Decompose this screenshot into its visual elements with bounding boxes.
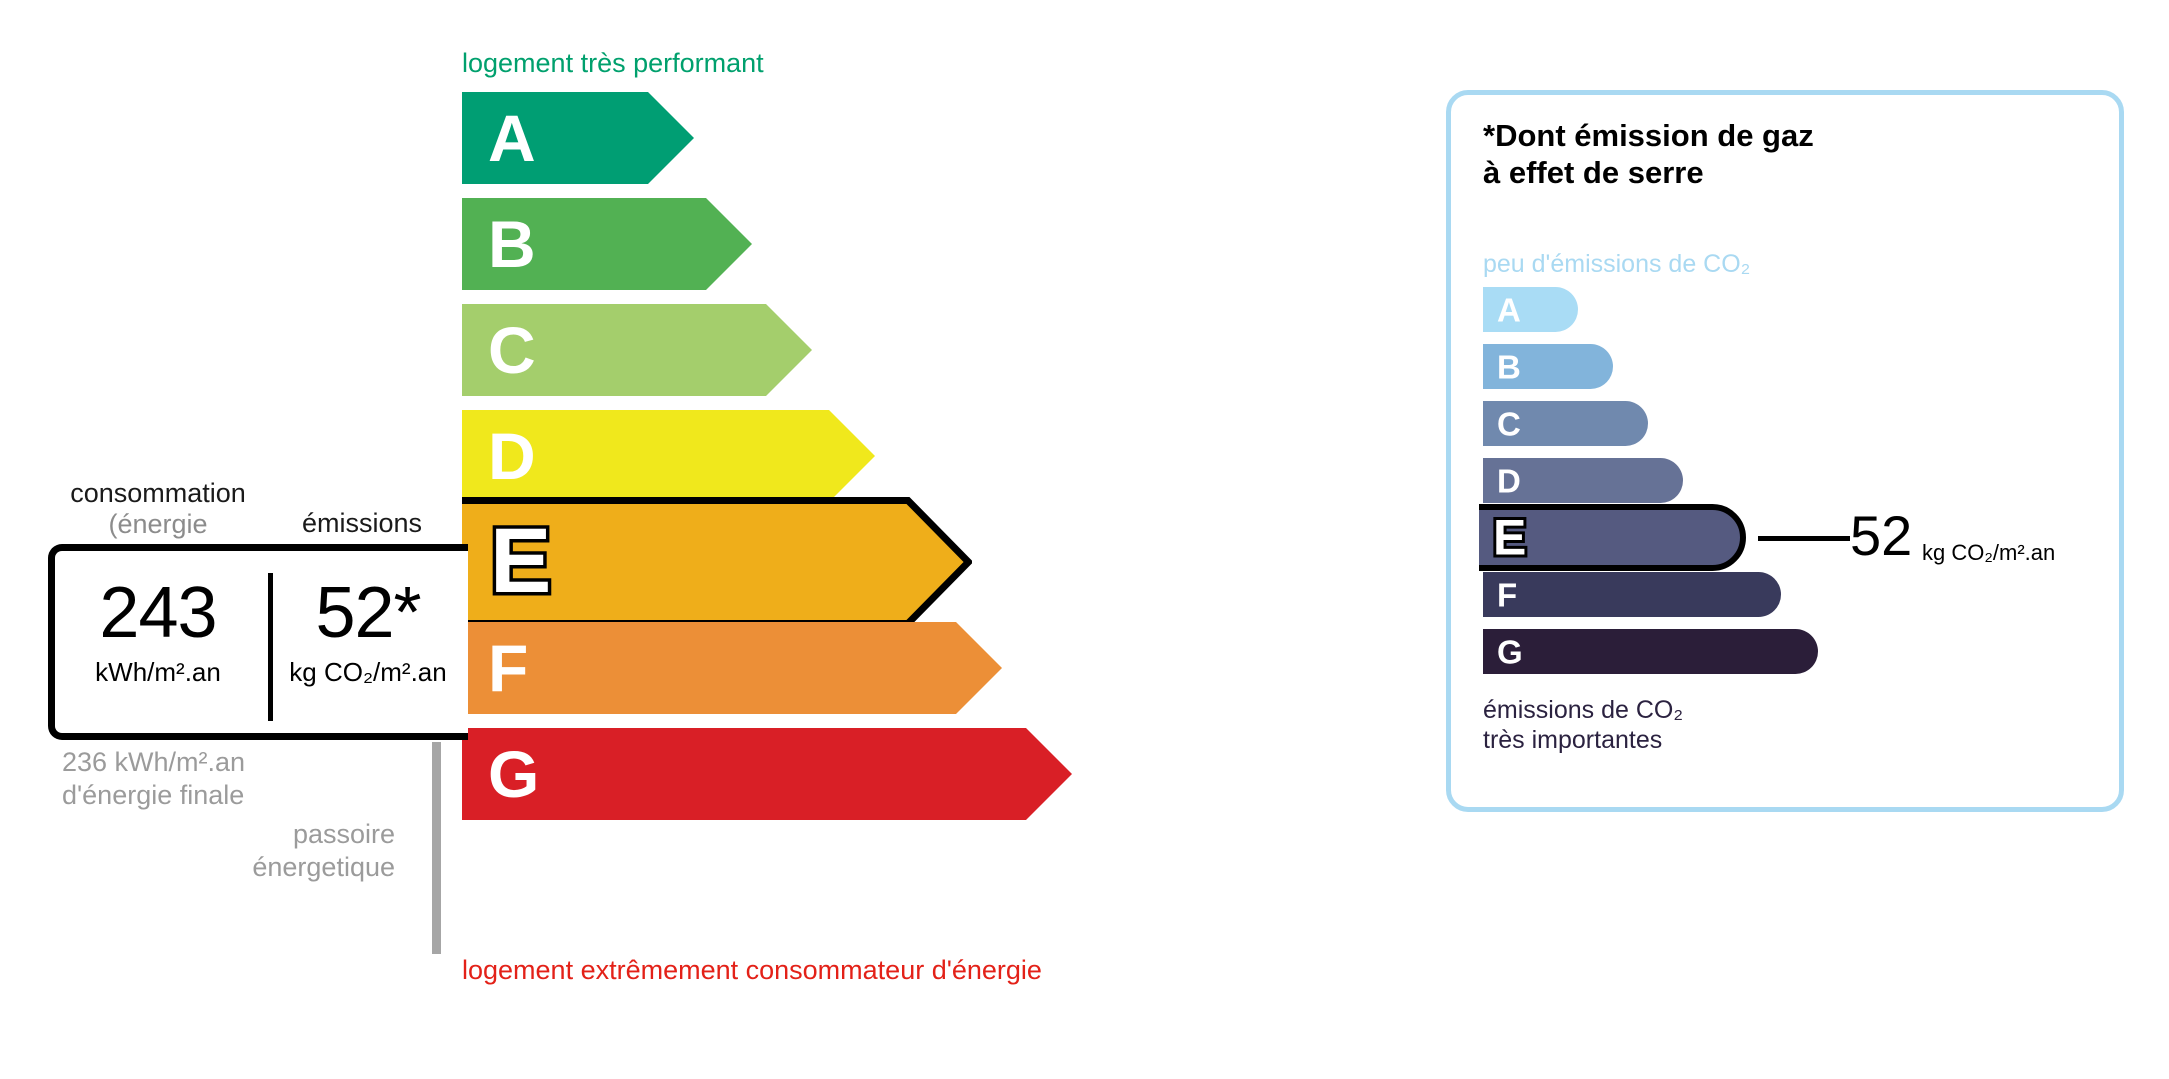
co2-callout-value: 52 bbox=[1850, 508, 1912, 564]
co2-class-row-c: C bbox=[1483, 401, 1648, 446]
energy-class-letter-b: B bbox=[488, 211, 536, 277]
emissions-unit: kg CO₂/m².an bbox=[273, 657, 463, 688]
emissions-label: émissions bbox=[302, 508, 422, 539]
energy-top-caption: logement très performant bbox=[462, 48, 764, 79]
co2-callout-unit: kg CO₂/m².an bbox=[1922, 540, 2055, 566]
co2-class-row-d: D bbox=[1483, 458, 1683, 503]
co2-class-letter-f: F bbox=[1497, 578, 1517, 611]
passoire-bracket bbox=[432, 742, 441, 954]
co2-bar-f bbox=[1483, 572, 1781, 617]
passoire-line2: énergetique bbox=[210, 851, 395, 884]
energy-class-letter-g: G bbox=[488, 741, 539, 807]
final-energy-line2: d'énergie finale bbox=[62, 779, 245, 812]
co2-top-label: peu d'émissions de CO₂ bbox=[1483, 250, 1750, 279]
energy-class-letter-f: F bbox=[488, 635, 528, 701]
energy-class-letter-a: A bbox=[488, 105, 536, 171]
energy-class-letter-c: C bbox=[488, 317, 536, 383]
co2-class-row-b: B bbox=[1483, 344, 1613, 389]
consumption-label-main: consommation bbox=[70, 478, 246, 508]
co2-class-letter-e: E bbox=[1493, 510, 1526, 566]
co2-bar-g bbox=[1483, 629, 1818, 674]
co2-class-letter-b: B bbox=[1497, 350, 1521, 383]
energy-class-letter-e: E bbox=[490, 510, 551, 612]
energy-performance-scale: logement très performant ABCDEFG consomm… bbox=[0, 0, 1300, 1079]
passoire-line1: passoire bbox=[210, 818, 395, 851]
emissions-value: 52* bbox=[273, 577, 463, 649]
co2-callout-line bbox=[1758, 536, 1850, 541]
energy-arrow-g bbox=[462, 728, 1072, 820]
co2-class-row-f: F bbox=[1483, 572, 1781, 617]
energy-arrow-f bbox=[462, 622, 1002, 714]
co2-panel: *Dont émission de gaz à effet de serre p… bbox=[1446, 90, 2124, 812]
energy-class-row-c: C bbox=[462, 304, 812, 396]
passoire-label: passoire énergetique bbox=[210, 818, 395, 884]
dpe-diagram: logement très performant ABCDEFG consomm… bbox=[0, 0, 2169, 1079]
consumption-unit: kWh/m².an bbox=[63, 657, 253, 688]
energy-bottom-caption: logement extrêmement consommateur d'éner… bbox=[462, 955, 1042, 986]
energy-class-row-f: F bbox=[462, 622, 1002, 714]
emissions-value-cell: 52* kg CO₂/m².an bbox=[273, 577, 463, 688]
co2-class-letter-a: A bbox=[1497, 293, 1521, 326]
co2-class-letter-g: G bbox=[1497, 635, 1523, 668]
co2-bottom-label: émissions de CO₂ très importantes bbox=[1483, 695, 1683, 755]
co2-class-letter-d: D bbox=[1497, 464, 1521, 497]
value-box: 243 kWh/m².an 52* kg CO₂/m².an bbox=[48, 544, 468, 740]
co2-class-row-g: G bbox=[1483, 629, 1818, 674]
final-energy-label: 236 kWh/m².an d'énergie finale bbox=[62, 746, 245, 812]
energy-class-row-a: A bbox=[462, 92, 694, 184]
consumption-value: 243 bbox=[63, 577, 253, 649]
energy-class-row-b: B bbox=[462, 198, 752, 290]
co2-bar-e: E bbox=[1479, 504, 1746, 571]
final-energy-line1: 236 kWh/m².an bbox=[62, 746, 245, 779]
energy-class-row-g: G bbox=[462, 728, 1072, 820]
energy-class-row-d: D bbox=[462, 410, 875, 502]
co2-class-letter-c: C bbox=[1497, 407, 1521, 440]
co2-panel-title: *Dont émission de gaz à effet de serre bbox=[1483, 117, 1814, 191]
co2-class-row-e-current: E bbox=[1479, 504, 1746, 571]
energy-arrow-e: E bbox=[462, 497, 972, 627]
consumption-value-cell: 243 kWh/m².an bbox=[63, 577, 253, 688]
energy-class-letter-d: D bbox=[488, 423, 536, 489]
energy-class-row-e-current: E bbox=[462, 497, 972, 627]
co2-class-row-a: A bbox=[1483, 287, 1578, 332]
